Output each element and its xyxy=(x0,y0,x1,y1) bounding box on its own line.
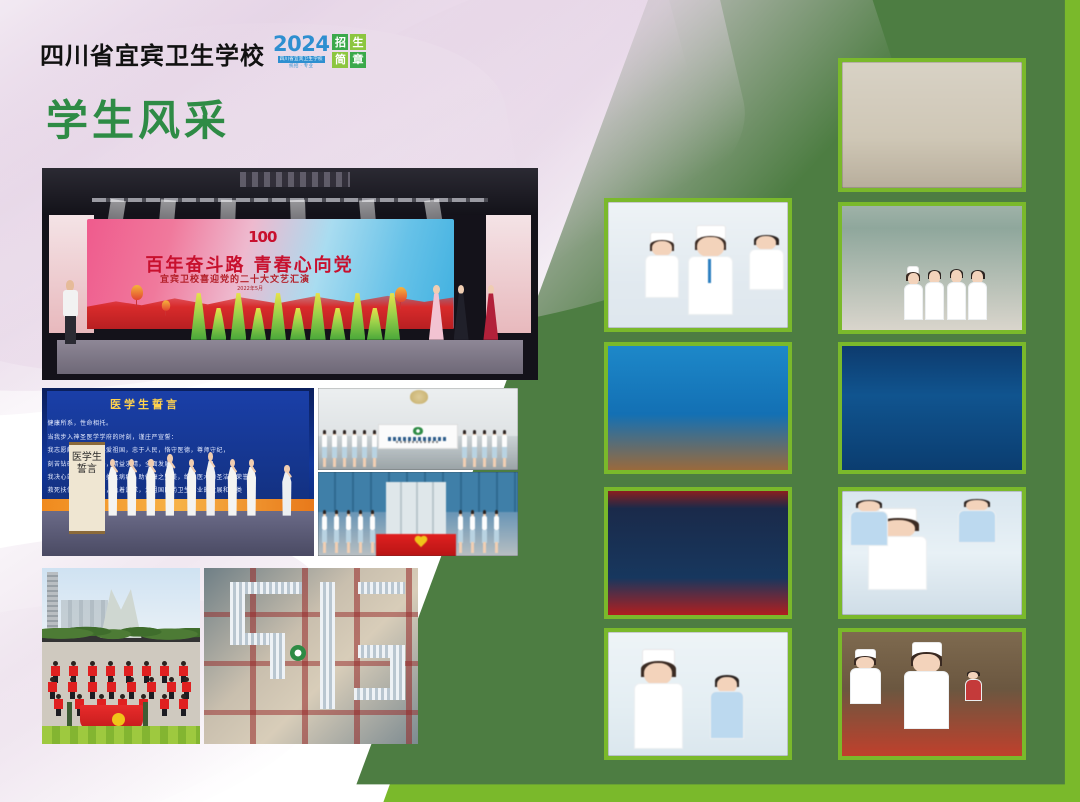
stage-host xyxy=(62,280,79,344)
photo-award-renwei: 届全国职业院校“人卫杯”检验技能竞赛 暨第四届“华驰杯”形态学在线大赛 主办：全… xyxy=(838,342,1026,474)
photo-military-drill xyxy=(42,568,200,744)
exam-nurse-front xyxy=(687,225,734,316)
badge-subtitle-2: 统招 · 专业 xyxy=(289,64,313,69)
photo-cpr-practice xyxy=(838,628,1026,760)
oath-line-1: 健康所系，性命相托。 xyxy=(47,418,112,427)
badge-char-sheng: 生 xyxy=(350,34,366,50)
page-header: 四川省宜宾卫生学校 2024 四川省宜宾卫生学校 统招 · 专业 招 生 简 章 xyxy=(40,34,366,68)
oath-line-2: 当我步入神圣医学学府的时刻，谨庄严宣誓： xyxy=(47,432,177,441)
photo-nursing-bedside xyxy=(838,487,1026,619)
oath-screen-title: 医学生誓言 xyxy=(110,396,180,412)
photo-stage-concert: 100 百年奋斗路 青春心向党 宜宾卫校喜迎党的二十大文艺汇演 2022年5月 xyxy=(42,168,538,380)
photo-medical-oath: 医学生誓言 健康所系，性命相托。 当我步入神圣医学学府的时刻，谨庄严宣誓： 我志… xyxy=(42,388,314,556)
photo-nursing-exam xyxy=(604,198,792,332)
cpr-student xyxy=(903,642,950,729)
stage-banner-subtitle: 宜宾卫校喜迎党的二十大文艺汇演 xyxy=(160,272,310,285)
badge-year-block: 2024 四川省宜宾卫生学校 统招 · 专业 xyxy=(273,34,329,68)
section-title: 学生风采 xyxy=(46,98,230,144)
badge-char-zhang: 章 xyxy=(350,52,366,68)
oath-scroll: 医学生誓言 xyxy=(69,442,104,534)
photo-award-ethnic: 护理护理 xyxy=(604,342,792,474)
photo-competition-blue: 2021年全国职业院校技能大赛教学能力比赛四川省选拔赛（中职组） 健康城市·幸福… xyxy=(838,202,1026,334)
badge-char-zhao: 招 xyxy=(332,34,348,50)
stage-banner-date: 2022年5月 xyxy=(237,285,263,292)
school-emblem-formation xyxy=(290,645,306,661)
badge-char-jian: 简 xyxy=(332,52,348,68)
infusion-nurse xyxy=(633,649,683,748)
oath-scroll-text: 医学生誓言 xyxy=(69,452,104,531)
badge-char-grid: 招 生 简 章 xyxy=(332,34,366,68)
badge-subtitle-1: 四川省宜宾卫生学校 xyxy=(278,56,325,63)
heart-icon xyxy=(414,536,428,549)
photo-award-first-prize: 宜宾市第十五届中职学生技能大赛获奖情况 一等奖： 刘 皓 陈疆萍 李彩瑶 刘颖楷 xyxy=(604,487,792,619)
slide-page: 四川省宜宾卫生学校 2024 四川省宜宾卫生学校 统招 · 专业 招 生 简 章… xyxy=(0,0,1080,802)
photo-lab-skills: 宜宾市第十五届中职学生技能大赛 xyxy=(838,58,1026,192)
badge-year: 2024 xyxy=(273,34,329,55)
group-white-banner xyxy=(378,424,458,449)
star-icon xyxy=(112,713,125,726)
photo-group-banner xyxy=(318,388,518,470)
photo-aerial-formation xyxy=(204,568,418,744)
stage-banner-100: 100 xyxy=(248,228,276,246)
photo-nursing-infusion xyxy=(604,628,792,760)
admission-brochure-badge: 2024 四川省宜宾卫生学校 统招 · 专业 招 生 简 章 xyxy=(273,34,366,68)
photo-group-flag xyxy=(318,472,518,556)
school-name: 四川省宜宾卫生学校 xyxy=(40,44,265,68)
